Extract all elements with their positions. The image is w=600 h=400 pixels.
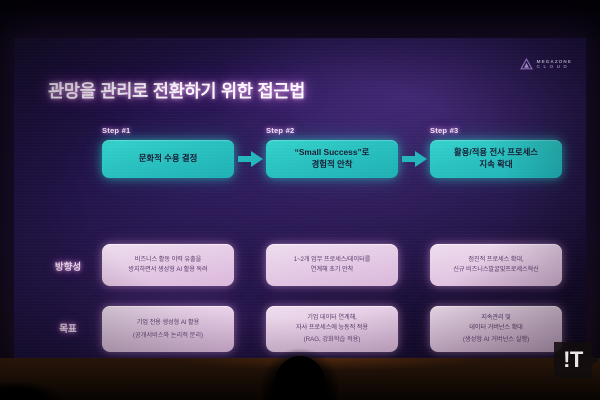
cell-direction-text-2: 1~2개 업무 프로세스/데이터를 연계해 초기 안착 [294,255,371,274]
cell-goal-step1: 기업 전용 생성형 AI 활용 (공개서비스와 논리적 분리) [102,306,234,352]
cell-goal-text-3: 지속관리 및 데이터 거버넌스 확대 [469,313,523,332]
slide-title: 관망을 관리로 전환하기 위한 접근법 [48,78,305,103]
presentation-photo: MEGAZONE C L O U D 관망을 관리로 전환하기 위한 접근법 S… [0,0,600,400]
cell-goal-note-1: (공개서비스와 논리적 분리) [133,331,203,341]
cell-goal-text-1: 기업 전용 생성형 AI 활용 [137,318,199,328]
brand-name-line2: C L O U D [537,65,572,70]
projected-slide: MEGAZONE C L O U D 관망을 관리로 전환하기 위한 접근법 S… [14,38,586,358]
step-box-1: 문화적 수용 결정 [102,140,234,178]
row-label-direction: 방향성 [44,259,92,273]
cell-direction-text-3: 점진적 프로세스 확대, 신규 비즈니스발굴및프로세스혁신 [453,255,539,274]
watermark-tail-shape [591,354,599,366]
megazone-triangle-icon [520,58,533,71]
step-box-title-2: “Small Success”로 경험적 안착 [290,147,375,170]
step-label-2: Step #2 [266,126,294,135]
audience-head-silhouette [262,342,338,400]
cell-direction-text-1: 비즈니스 활동 이력 유출을 방지하면서 생성형 AI 활용 독려 [128,255,207,274]
watermark-label: !T [563,349,583,371]
cell-direction-step1: 비즈니스 활동 이력 유출을 방지하면서 생성형 AI 활용 독려 [102,244,234,286]
step-label-1: Step #1 [102,126,130,135]
cell-direction-step2: 1~2개 업무 프로세스/데이터를 연계해 초기 안착 [266,244,398,286]
step-box-2: “Small Success”로 경험적 안착 [266,140,398,178]
step-box-3: 활용/적용 전사 프로세스 지속 확대 [430,140,562,178]
cell-goal-text-2: 기업 데이터 연계해, 자사 프로세스에 능동적 적용 [296,313,368,332]
right-arrow-icon-2 [402,150,428,168]
megazone-cloud-logo: MEGAZONE C L O U D [520,58,572,71]
brand-wordmark: MEGAZONE C L O U D [537,60,572,70]
step-box-title-1: 문화적 수용 결정 [134,153,203,165]
step-label-3: Step #3 [430,126,458,135]
right-arrow-icon-1 [238,150,264,168]
cell-direction-step3: 점진적 프로세스 확대, 신규 비즈니스발굴및프로세스혁신 [430,244,562,286]
row-label-goal: 목표 [44,321,92,335]
audience-left-silhouette [0,378,70,400]
cell-goal-note-3: (생성형 AI 거버넌스 실행) [463,335,529,345]
it-watermark-logo: !T [554,342,592,378]
cell-goal-step3: 지속관리 및 데이터 거버넌스 확대 (생성형 AI 거버넌스 실행) [430,306,562,352]
step-box-title-3: 활용/적용 전사 프로세스 지속 확대 [449,147,543,170]
